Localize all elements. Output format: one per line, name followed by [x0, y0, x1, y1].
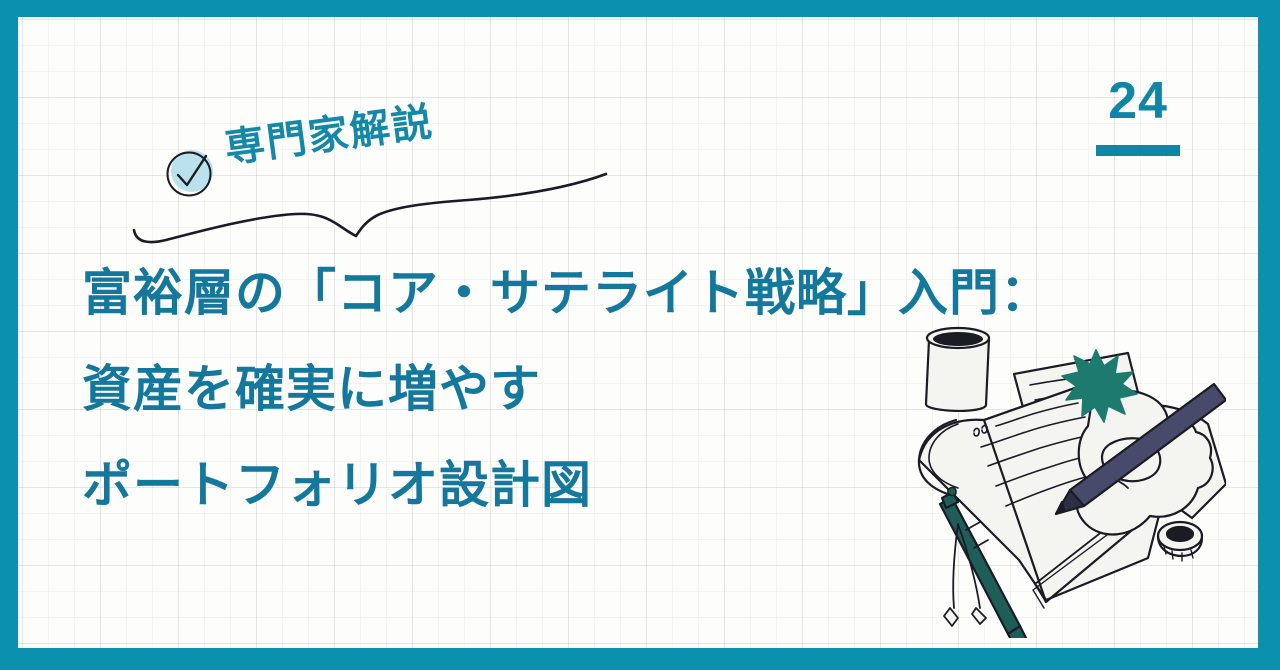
title-line-1: 富裕層の「コア・サテライト戦略」入門： [82, 245, 912, 341]
expert-badge-group: 専門家解説 [128, 125, 648, 250]
episode-number: 24 [1096, 75, 1180, 127]
paper-background: 専門家解説 24 富裕層の「コア・サテライト戦略」入門： 資産を確実に増やす ポ… [18, 17, 1258, 648]
title-line-2: 資産を確実に増やす [82, 341, 912, 437]
underline-flourish-icon [128, 170, 648, 255]
episode-number-badge: 24 [1096, 75, 1180, 156]
coffee-cup-icon [926, 328, 989, 411]
title-line-3: ポートフォリオ設計図 [82, 437, 912, 533]
article-thumbnail-card: 専門家解説 24 富裕層の「コア・サテライト戦略」入門： 資産を確実に増やす ポ… [0, 0, 1280, 670]
episode-number-rule [1096, 145, 1180, 156]
expert-badge-label: 専門家解説 [222, 100, 436, 171]
desk-notebook-handwriting-illustration [896, 308, 1226, 638]
ring-icon [1158, 522, 1202, 561]
page-title: 富裕層の「コア・サテライト戦略」入門： 資産を確実に増やす ポートフォリオ設計図 [82, 245, 912, 533]
